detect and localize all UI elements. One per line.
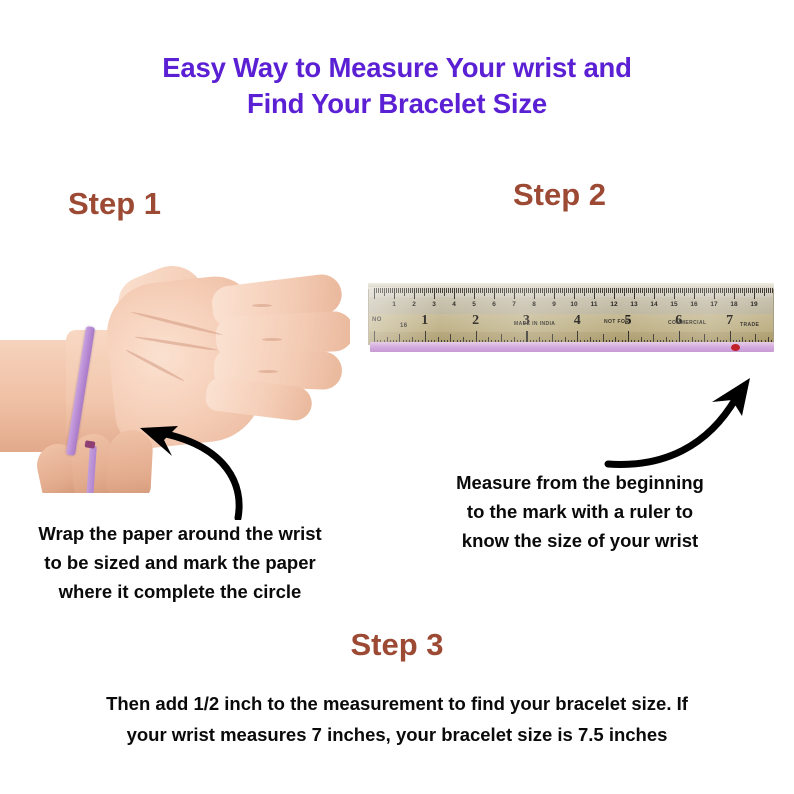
ruler-metric-tick xyxy=(698,288,699,293)
ruler-metric-tick xyxy=(496,288,497,293)
ruler-metric-tick xyxy=(626,288,627,293)
ruler-metric-tick xyxy=(378,288,379,293)
ruler-metric-label: 8 xyxy=(532,301,536,308)
ruler-metric-tick xyxy=(430,288,431,293)
ruler-metric-tick xyxy=(598,288,599,293)
ruler-metric-tick xyxy=(640,288,641,293)
ruler-metric-tick xyxy=(558,288,559,293)
ruler-metric-tick xyxy=(680,288,681,293)
ruler-metric-tick xyxy=(404,288,405,296)
ruler-metric-tick xyxy=(412,288,413,293)
page-title-line-1: Easy Way to Measure Your wrist and xyxy=(162,52,632,83)
ruler-metric-tick xyxy=(748,288,749,293)
knuckle-line xyxy=(262,338,282,341)
ruler-metric-tick xyxy=(728,288,729,293)
step-2-caption: Measure from the beginning to the mark w… xyxy=(398,468,762,555)
ruler-metric-tick xyxy=(458,288,459,293)
step-1-heading: Step 1 xyxy=(68,186,161,222)
ruler-metric-tick xyxy=(376,288,377,293)
ruler-metric-tick xyxy=(766,288,767,293)
ruler-metric-tick xyxy=(730,288,731,293)
ruler-metric-tick xyxy=(486,288,487,293)
ruler-metric-label: 4 xyxy=(452,301,456,308)
ruler-metric-tick xyxy=(630,288,631,293)
ruler-metric-tick xyxy=(484,288,485,296)
ruler-metric-tick xyxy=(590,288,591,293)
ruler-metric-tick xyxy=(706,288,707,293)
ruler-metric-tick xyxy=(438,288,439,293)
ruler-metric-tick xyxy=(544,288,545,296)
ruler-metric-tick xyxy=(470,288,471,293)
knuckle-line xyxy=(258,370,278,373)
ruler-metric-tick xyxy=(482,288,483,293)
ruler-metric-tick xyxy=(396,288,397,293)
ruler-metric-tick xyxy=(526,288,527,293)
ruler-inch-label: 7 xyxy=(726,313,733,329)
ruler-metric-tick xyxy=(524,288,525,296)
ruler-metric-tick xyxy=(530,288,531,293)
ruler-brand-trade: TRADE xyxy=(740,322,759,328)
ruler-metric-tick xyxy=(436,288,437,293)
ruler-metric-tick xyxy=(762,288,763,293)
ruler-metric-tick xyxy=(490,288,491,293)
ruler-metric-tick xyxy=(628,288,629,293)
ruler-metric-tick xyxy=(692,288,693,293)
ruler-metric-tick xyxy=(494,288,495,299)
knuckle-line xyxy=(252,304,272,307)
step-3-caption-line-2: your wrist measures 7 inches, your brace… xyxy=(52,719,742,750)
ruler-inch-label: 4 xyxy=(574,313,581,329)
ruler-metric-tick xyxy=(638,288,639,293)
ruler-metric-tick xyxy=(604,288,605,296)
ruler-metric-tick xyxy=(606,288,607,293)
ruler-metric-tick xyxy=(652,288,653,293)
ruler-metric-tick xyxy=(374,288,375,299)
ruler-metric-tick xyxy=(556,288,557,293)
ruler-metric-tick xyxy=(424,288,425,296)
ruler-metric-tick xyxy=(662,288,663,293)
ruler-metric-tick xyxy=(406,288,407,293)
ruler-metric-tick xyxy=(478,288,479,293)
ruler-metric-tick xyxy=(684,288,685,296)
ruler-metric-tick xyxy=(432,288,433,293)
ruler-metric-tick xyxy=(456,288,457,293)
step-3-caption: Then add 1/2 inch to the measurement to … xyxy=(52,688,742,750)
ruler-metric-tick xyxy=(636,288,637,293)
ruler-metric-label: 3 xyxy=(432,301,436,308)
ruler-metric-tick xyxy=(586,288,587,293)
ruler-metric-tick xyxy=(746,288,747,293)
step-3-caption-line-1: Then add 1/2 inch to the measurement to … xyxy=(52,688,742,719)
ruler-metric-tick xyxy=(550,288,551,293)
ruler-metric-tick xyxy=(600,288,601,293)
ruler-metric-label: 10 xyxy=(570,301,577,308)
ruler-metric-tick xyxy=(446,288,447,293)
ruler-metric-tick xyxy=(576,288,577,293)
ruler-metric-tick xyxy=(578,288,579,293)
ruler-metric-tick xyxy=(476,288,477,293)
paper-strip-mark xyxy=(85,440,96,448)
ruler-metric-tick xyxy=(532,288,533,293)
ruler-metric-tick xyxy=(520,288,521,293)
ruler-metric-tick xyxy=(772,288,773,293)
ruler-metric-tick xyxy=(658,288,659,293)
ruler-metric-tick xyxy=(712,288,713,293)
ruler-metric-tick xyxy=(566,288,567,293)
ruler-inch-label: 1 xyxy=(421,313,428,329)
ruler-metric-tick xyxy=(540,288,541,293)
ruler-metric-tick xyxy=(752,288,753,293)
ruler-metric-tick xyxy=(690,288,691,293)
ruler-metric-tick xyxy=(522,288,523,293)
ruler-metric-tick xyxy=(408,288,409,293)
ruler-metric-tick xyxy=(468,288,469,293)
step-1-caption: Wrap the paper around the wrist to be si… xyxy=(8,519,352,606)
ruler-brand-made-in-india: MADE IN INDIA xyxy=(514,321,555,327)
ruler-metric-tick xyxy=(560,288,561,293)
ruler-metric-tick xyxy=(624,288,625,296)
ruler-metric-tick xyxy=(440,288,441,293)
ruler-metric-label: 13 xyxy=(630,301,637,308)
ruler-metric-tick xyxy=(750,288,751,293)
ruler-metric-tick xyxy=(670,288,671,293)
ruler-metric-tick xyxy=(398,288,399,293)
ruler-metric-tick xyxy=(756,288,757,293)
ruler-metric-tick xyxy=(634,288,635,299)
infographic-page: Easy Way to Measure Your wrist and Find … xyxy=(0,0,794,794)
ruler-metric-tick xyxy=(660,288,661,293)
arrow-to-paper-mark-on-wrist-icon xyxy=(126,412,276,520)
page-title-line-2: Find Your Bracelet Size xyxy=(0,86,794,122)
ruler-metric-tick xyxy=(672,288,673,293)
ruler-metric-tick xyxy=(480,288,481,293)
ruler-metric-tick xyxy=(732,288,733,293)
ruler-brand-not-for: NOT FOR xyxy=(604,319,629,325)
ruler-metric-label: 7 xyxy=(512,301,516,308)
ruler-metric-tick xyxy=(588,288,589,293)
ruler-metric-tick xyxy=(704,288,705,296)
paper-strip-on-ruler xyxy=(370,342,774,352)
ruler-metric-tick xyxy=(770,288,771,293)
ruler-metric-label: 6 xyxy=(492,301,496,308)
ruler-metric-tick xyxy=(462,288,463,293)
ruler-metric-tick xyxy=(382,288,383,293)
ruler-metric-label: 9 xyxy=(552,301,556,308)
ruler-metric-tick xyxy=(536,288,537,293)
ruler-metric-tick xyxy=(720,288,721,293)
ruler-metric-tick xyxy=(596,288,597,293)
ruler-metric-tick xyxy=(734,288,735,299)
ruler-metric-tick xyxy=(594,288,595,299)
ruler-metric-tick xyxy=(528,288,529,293)
page-title: Easy Way to Measure Your wrist and Find … xyxy=(0,50,794,122)
arrow-to-ruler-mark-icon xyxy=(604,372,774,476)
ruler-metric-tick xyxy=(488,288,489,293)
ruler-metric-tick xyxy=(492,288,493,293)
ruler-metric-tick xyxy=(454,288,455,299)
ruler-metric-tick xyxy=(602,288,603,293)
ruler-metric-tick xyxy=(474,288,475,299)
ruler-metric-tick xyxy=(460,288,461,293)
ruler-metric-tick xyxy=(388,288,389,293)
ruler-metric-tick xyxy=(608,288,609,293)
ruler-metric-label: 17 xyxy=(710,301,717,308)
step-2-caption-line-3: know the size of your wrist xyxy=(398,526,762,555)
ruler-metric-tick xyxy=(656,288,657,293)
ruler-metric-tick xyxy=(668,288,669,293)
ruler-metric-tick xyxy=(546,288,547,293)
ruler-metric-label: 1 xyxy=(392,301,396,308)
ruler-metric-tick xyxy=(592,288,593,293)
ruler-metric-tick xyxy=(768,288,769,293)
ruler-metric-tick xyxy=(700,288,701,293)
ruler-metric-tick xyxy=(410,288,411,293)
ruler-metric-tick xyxy=(380,288,381,293)
ruler-illustration: 12345678910111213141516171819 1234567 MA… xyxy=(368,283,774,361)
step-1-caption-line-2: to be sized and mark the paper xyxy=(8,548,352,577)
ruler-metric-tick xyxy=(740,288,741,293)
ruler-metric-label: 16 xyxy=(690,301,697,308)
ruler-metric-tick xyxy=(714,288,715,299)
ruler-metric-tick xyxy=(708,288,709,293)
ruler-metric-tick xyxy=(764,288,765,296)
ruler-metric-tick xyxy=(646,288,647,293)
ruler-metric-tick xyxy=(754,288,755,299)
ruler-metric-tick xyxy=(760,288,761,293)
ruler-metric-tick xyxy=(562,288,563,293)
ruler-metric-tick xyxy=(420,288,421,293)
ruler-metric-tick xyxy=(500,288,501,293)
ruler-metric-tick xyxy=(514,288,515,299)
ruler-metric-tick xyxy=(568,288,569,293)
ruler-metric-label: 11 xyxy=(591,301,598,308)
ruler-metric-tick xyxy=(758,288,759,293)
ruler-metric-tick xyxy=(414,288,415,299)
ruler-metric-tick xyxy=(742,288,743,293)
ruler-metric-tick xyxy=(584,288,585,296)
ruler-metric-tick xyxy=(416,288,417,293)
ruler-metric-tick xyxy=(570,288,571,293)
ruler-metric-tick xyxy=(610,288,611,293)
ruler-metric-tick xyxy=(548,288,549,293)
ruler-metric-tick xyxy=(498,288,499,293)
ruler-metric-tick xyxy=(614,288,615,299)
ruler-metric-tick xyxy=(622,288,623,293)
ruler-metric-tick xyxy=(572,288,573,293)
step-2-caption-line-2: to the mark with a ruler to xyxy=(398,497,762,526)
ruler-metric-tick xyxy=(538,288,539,293)
ruler-metric-tick xyxy=(648,288,649,293)
ruler-metric-tick xyxy=(686,288,687,293)
ruler-metric-tick xyxy=(674,288,675,299)
ruler-metric-tick xyxy=(552,288,553,293)
ruler-metric-tick xyxy=(506,288,507,293)
ruler-metric-tick xyxy=(504,288,505,296)
ruler-metric-tick xyxy=(402,288,403,293)
ruler-metric-label: 14 xyxy=(650,301,657,308)
ruler-metric-tick xyxy=(650,288,651,293)
ruler-metric-tick xyxy=(722,288,723,293)
ruler-metric-tick xyxy=(654,288,655,299)
ruler-metric-tick xyxy=(426,288,427,293)
ruler-metric-tick xyxy=(632,288,633,293)
ruler-metric-tick xyxy=(508,288,509,293)
ruler-metric-tick xyxy=(642,288,643,293)
ruler-metric-tick xyxy=(580,288,581,293)
ruler-metric-tick xyxy=(422,288,423,293)
ruler-inch-corner-label: NO xyxy=(372,317,382,323)
ruler-metric-label: 12 xyxy=(610,301,617,308)
ruler-metric-tick xyxy=(694,288,695,299)
ruler-metric-tick xyxy=(542,288,543,293)
ruler-metric-tick xyxy=(466,288,467,293)
ruler-metric-tick xyxy=(688,288,689,293)
step-2-caption-line-1: Measure from the beginning xyxy=(398,468,762,497)
ruler-inch-label: 2 xyxy=(472,313,479,329)
ruler-metric-tick xyxy=(724,288,725,296)
ruler-metric-tick xyxy=(434,288,435,299)
ruler-metric-tick xyxy=(682,288,683,293)
ruler-metric-tick xyxy=(718,288,719,293)
ruler-brand-commercial: COMMERCIAL xyxy=(668,320,706,326)
ruler-metric-tick xyxy=(394,288,395,299)
ruler-metric-label: 2 xyxy=(412,301,416,308)
ruler-metric-label: 18 xyxy=(730,301,737,308)
ruler-metric-tick xyxy=(744,288,745,296)
ruler-metric-tick xyxy=(616,288,617,293)
ruler-metric-tick xyxy=(472,288,473,293)
ruler-metric-tick xyxy=(534,288,535,299)
ruler-metric-tick xyxy=(428,288,429,293)
ruler-metric-tick xyxy=(620,288,621,293)
ruler-metric-tick xyxy=(512,288,513,293)
ruler-metric-label: 19 xyxy=(750,301,757,308)
ruler-metric-tick xyxy=(392,288,393,293)
ruler-metric-tick xyxy=(716,288,717,293)
step-3-heading: Step 3 xyxy=(0,627,794,663)
ruler-metric-tick xyxy=(554,288,555,299)
ruler-metric-tick xyxy=(510,288,511,293)
ruler-metric-tick xyxy=(726,288,727,293)
ruler-metric-tick xyxy=(400,288,401,293)
step-2-heading: Step 2 xyxy=(513,177,606,213)
ruler-metric-tick xyxy=(696,288,697,293)
ruler-metric-tick xyxy=(664,288,665,296)
ruler-metric-tick xyxy=(384,288,385,296)
step-1-caption-line-3: where it complete the circle xyxy=(8,577,352,606)
ruler-metric-tick xyxy=(516,288,517,293)
ruler-metric-tick xyxy=(678,288,679,293)
ruler-metric-tick xyxy=(618,288,619,293)
ruler-metric-tick xyxy=(444,288,445,296)
ruler-metric-tick xyxy=(452,288,453,293)
ruler-metric-tick xyxy=(574,288,575,299)
ruler-metric-tick xyxy=(418,288,419,293)
ruler-metric-tick xyxy=(612,288,613,293)
ruler-metric-tick xyxy=(710,288,711,293)
ruler-metric-tick xyxy=(450,288,451,293)
ruler-metric-tick xyxy=(564,288,565,296)
ruler-metric-tick xyxy=(386,288,387,293)
ruler-metric-tick xyxy=(736,288,737,293)
ruler-inch-sixteenth-label: 16 xyxy=(400,323,407,329)
ruler-metric-label: 5 xyxy=(472,301,476,308)
ruler-metric-tick xyxy=(582,288,583,293)
ruler-metric-tick xyxy=(518,288,519,293)
ruler-metric-tick xyxy=(442,288,443,293)
ruler-metric-tick xyxy=(448,288,449,293)
ruler-metric-tick xyxy=(738,288,739,293)
ruler-metric-tick xyxy=(464,288,465,296)
paper-strip-red-mark xyxy=(731,344,740,351)
ruler-metric-tick xyxy=(666,288,667,293)
step-1-caption-line-1: Wrap the paper around the wrist xyxy=(8,519,352,548)
ruler-metric-tick xyxy=(676,288,677,293)
ruler-metric-tick xyxy=(644,288,645,296)
ruler-metric-tick xyxy=(502,288,503,293)
ruler-metric-label: 15 xyxy=(670,301,677,308)
ruler-metric-tick xyxy=(390,288,391,293)
ruler-metric-tick xyxy=(702,288,703,293)
